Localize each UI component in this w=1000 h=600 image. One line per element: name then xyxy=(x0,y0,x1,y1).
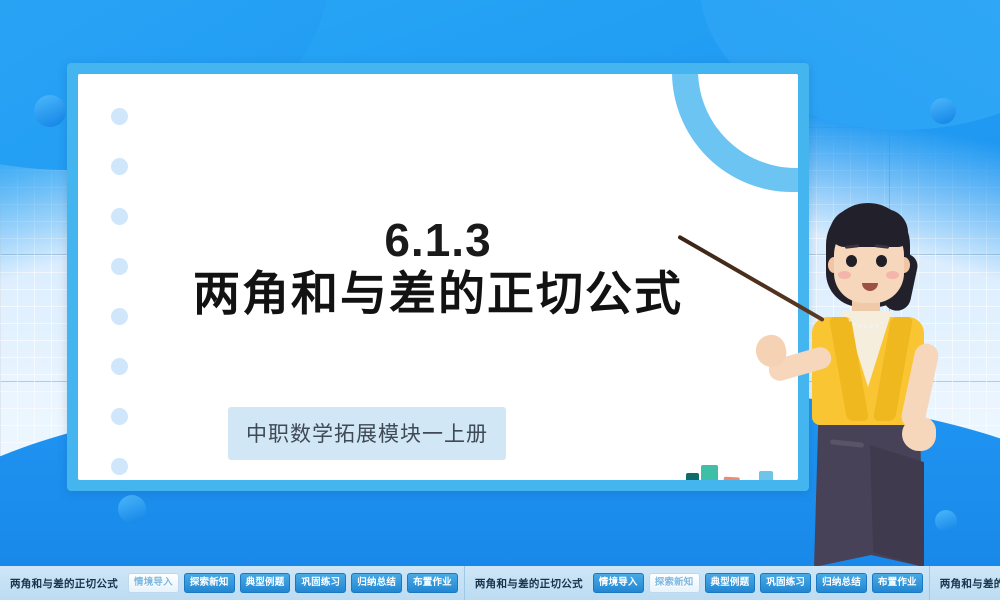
hair-fringe xyxy=(830,209,908,247)
punch-hole xyxy=(111,208,128,225)
strip-lesson-title: 两角和与差的正切公式 xyxy=(473,576,588,591)
nav-strip-3: 两角和与差的正切公式 情境导入 探索新知 典型例题 巩固练习 归纳总结 布置作业 xyxy=(930,566,1000,600)
cheek-left xyxy=(838,271,851,279)
slide-canvas: 6.1.3 两角和与差的正切公式 中职数学拓展模块一上册 xyxy=(0,0,1000,600)
punch-hole xyxy=(111,158,128,175)
book xyxy=(686,473,699,480)
card-corner-arc xyxy=(672,74,798,192)
nav-chip-dianxing-liti[interactable]: 典型例题 xyxy=(240,573,291,594)
decorative-circle-top-right xyxy=(930,98,956,124)
nav-chip-qingjing-daoru[interactable]: 情境导入 xyxy=(128,573,179,594)
punch-hole xyxy=(111,108,128,125)
nav-chip-qingjing-daoru[interactable]: 情境导入 xyxy=(593,573,644,594)
book xyxy=(701,465,718,480)
book xyxy=(759,471,773,480)
punch-hole-column xyxy=(111,108,128,480)
punch-hole xyxy=(111,458,128,475)
teacher-illustration xyxy=(790,195,1000,570)
nav-chip-gonggu-lianxi[interactable]: 巩固练习 xyxy=(295,573,346,594)
nav-chip-buzhi-zuoye[interactable]: 布置作业 xyxy=(407,573,458,594)
cheek-right xyxy=(886,271,899,279)
punch-hole xyxy=(111,358,128,375)
strip-lesson-title: 两角和与差的正切公式 xyxy=(8,576,123,591)
bottom-nav-bar: 两角和与差的正切公式 情境导入 探索新知 典型例题 巩固练习 归纳总结 布置作业… xyxy=(0,566,1000,600)
decorative-circle-top-left xyxy=(34,95,66,127)
nav-strip-1: 两角和与差的正切公式 情境导入 探索新知 典型例题 巩固练习 归纳总结 布置作业 xyxy=(0,566,465,600)
nav-chip-buzhi-zuoye[interactable]: 布置作业 xyxy=(872,573,923,594)
page-title: 两角和与差的正切公式 xyxy=(78,266,798,321)
subtitle-badge: 中职数学拓展模块一上册 xyxy=(228,407,506,460)
nav-chip-tansuo-xinzhi[interactable]: 探索新知 xyxy=(184,573,235,594)
decorative-circle-bottom-left xyxy=(118,495,146,523)
book xyxy=(720,477,740,480)
eye-left xyxy=(846,255,857,267)
eye-right xyxy=(876,255,887,267)
title-card-frame: 6.1.3 两角和与差的正切公式 中职数学拓展模块一上册 xyxy=(67,63,809,491)
nav-chip-guina-zongjie[interactable]: 归纳总结 xyxy=(351,573,402,594)
nav-chip-tansuo-xinzhi[interactable]: 探索新知 xyxy=(649,573,700,594)
nav-chip-dianxing-liti[interactable]: 典型例题 xyxy=(705,573,756,594)
hand-on-hip xyxy=(902,417,936,451)
punch-hole xyxy=(111,258,128,275)
title-block: 6.1.3 两角和与差的正切公式 xyxy=(78,216,798,322)
nav-chip-guina-zongjie[interactable]: 归纳总结 xyxy=(816,573,867,594)
stationery-illustration xyxy=(612,449,798,480)
punch-hole xyxy=(111,408,128,425)
title-card: 6.1.3 两角和与差的正切公式 中职数学拓展模块一上册 xyxy=(78,74,798,480)
skirt-fold xyxy=(870,445,924,567)
nav-chip-gonggu-lianxi[interactable]: 巩固练习 xyxy=(760,573,811,594)
nav-strip-2: 两角和与差的正切公式 情境导入 探索新知 典型例题 巩固练习 归纳总结 布置作业 xyxy=(465,566,930,600)
strip-lesson-title: 两角和与差的正切公式 xyxy=(938,576,1000,591)
punch-hole xyxy=(111,308,128,325)
